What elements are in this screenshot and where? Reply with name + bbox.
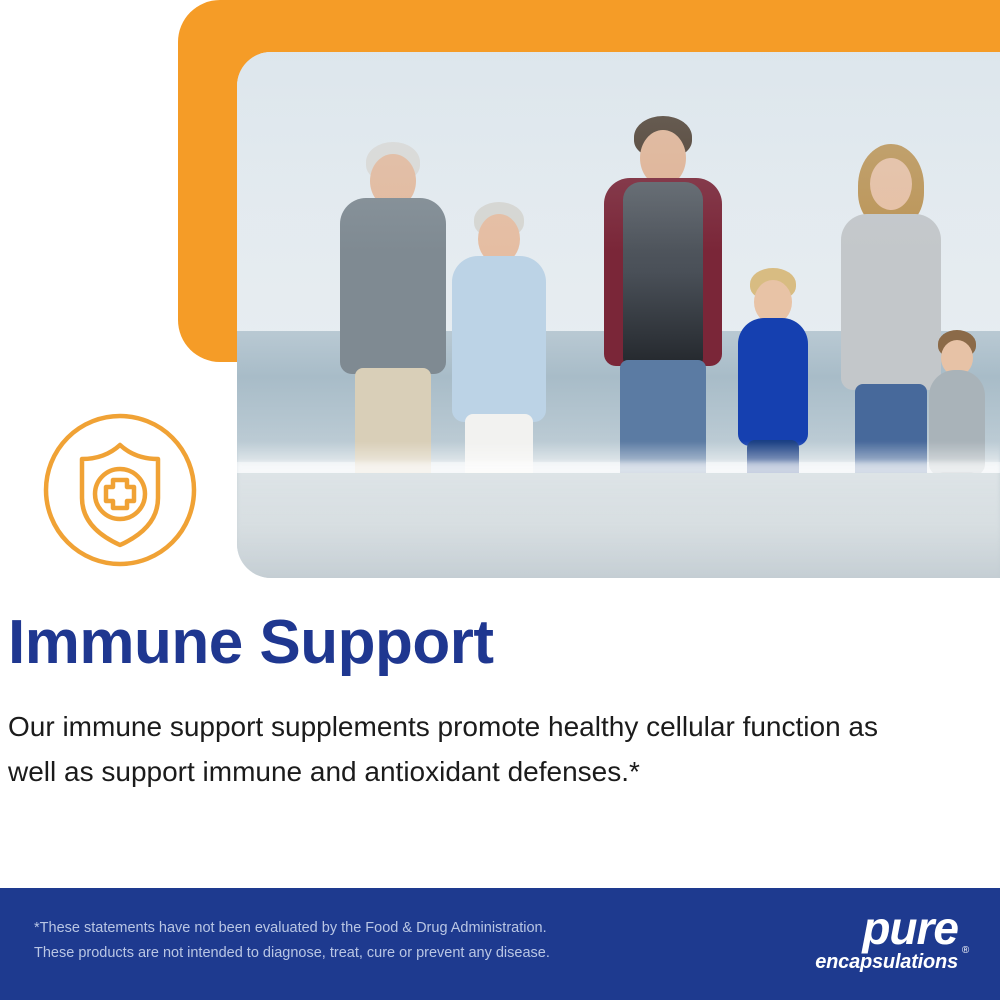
footer-bar: *These statements have not been evaluate… [0,888,1000,1000]
page-title: Immune Support [8,612,948,674]
disclaimer-line-1: *These statements have not been evaluate… [34,916,550,941]
water-sheen [237,462,1000,578]
beach-scene [237,52,1000,578]
torso [340,198,446,374]
brand-logo-secondary-text: encapsulations [815,951,958,973]
hero-photo [237,52,1000,578]
brand-logo-primary: pure [768,906,958,951]
vest [623,182,703,368]
registered-trademark-icon: ® [962,945,969,956]
head [870,158,912,210]
brand-logo: pure encapsulations ® [768,906,958,973]
disclaimer-line-2: These products are not intended to diagn… [34,941,550,966]
disclaimer-text: *These statements have not been evaluate… [34,916,550,965]
brand-logo-secondary: encapsulations ® [768,951,958,973]
shield-health-icon [42,412,198,568]
torso [738,318,808,446]
torso [452,256,546,422]
page-description: Our immune support supplements promote h… [8,704,888,795]
content-block: Immune Support Our immune support supple… [8,612,948,795]
